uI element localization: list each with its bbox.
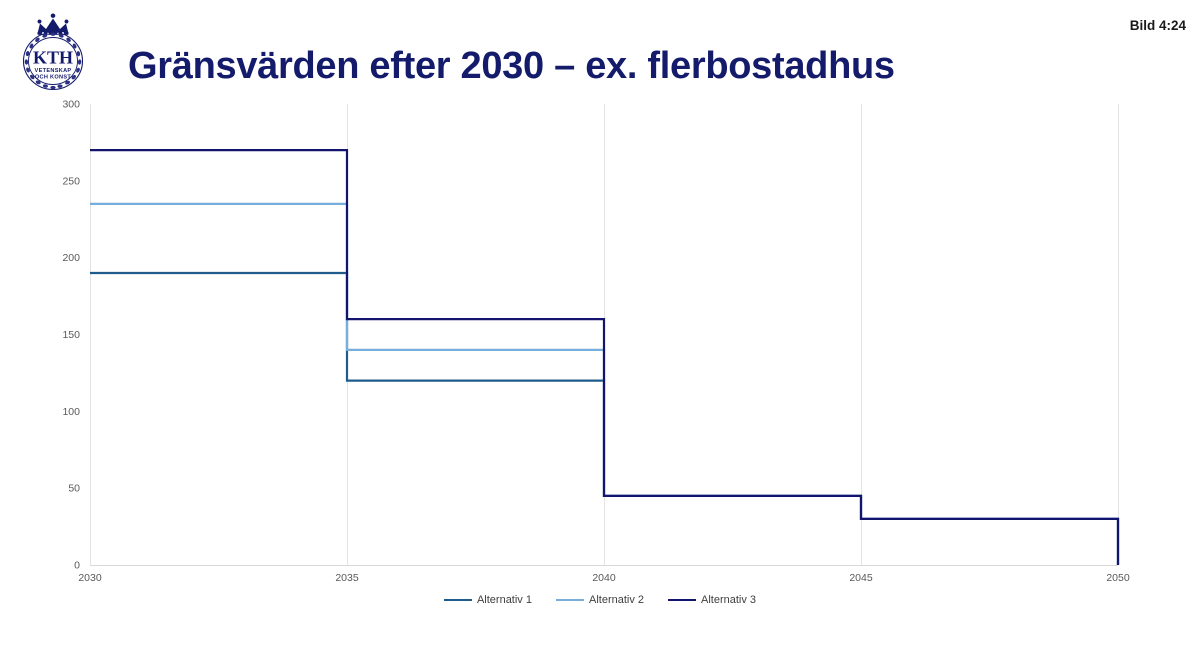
y-axis-tick-label: 150 [62, 329, 80, 341]
legend-swatch-icon [444, 599, 472, 602]
y-axis-tick-label: 0 [74, 560, 80, 572]
legend-label: Alternativ 3 [701, 594, 756, 606]
x-axis-tick-label: 2050 [1106, 572, 1130, 584]
legend-label: Alternativ 2 [589, 594, 644, 606]
x-axis-tick-label: 2035 [335, 572, 359, 584]
y-axis-tick-label: 50 [68, 483, 80, 495]
legend-label: Alternativ 1 [477, 594, 532, 606]
x-axis-tick-label: 2040 [592, 572, 616, 584]
y-axis-tick-label: 300 [62, 99, 80, 111]
y-axis-tick-labels: 050100150200250300 [62, 99, 80, 572]
legend-swatch-icon [668, 599, 696, 602]
x-axis-tick-label: 2030 [78, 572, 102, 584]
step-chart: 050100150200250300 20302035204020452050 [0, 0, 1200, 648]
y-axis-tick-label: 200 [62, 252, 80, 264]
legend-item[interactable]: Alternativ 3 [668, 594, 756, 606]
chart-legend: Alternativ 1Alternativ 2Alternativ 3 [0, 594, 1200, 606]
x-axis-tick-labels: 20302035204020452050 [78, 572, 1130, 584]
y-axis-tick-label: 100 [62, 406, 80, 418]
legend-item[interactable]: Alternativ 1 [444, 594, 532, 606]
legend-item[interactable]: Alternativ 2 [556, 594, 644, 606]
chart-svg: 050100150200250300 20302035204020452050 [0, 0, 1200, 648]
legend-swatch-icon [556, 599, 584, 602]
x-axis-tick-label: 2045 [849, 572, 873, 584]
y-axis-tick-label: 250 [62, 175, 80, 187]
